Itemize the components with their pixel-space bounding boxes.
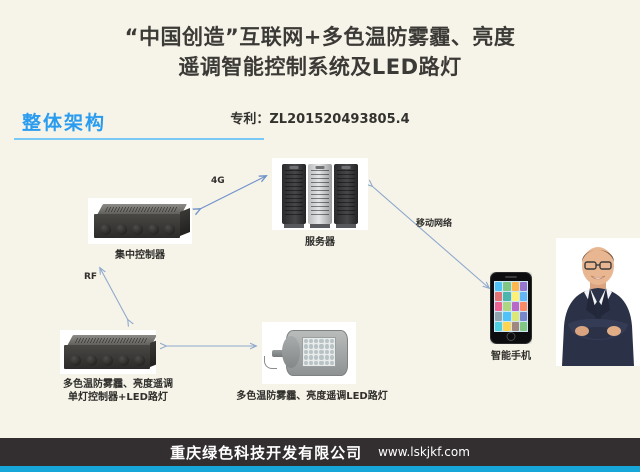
businessman-illustration (556, 238, 640, 366)
businessman-photo (556, 238, 640, 366)
concentrator-image (88, 198, 192, 244)
slide-canvas: “中国创造”互联网+多色温防雾霾、亮度 遥调智能控制系统及LED路灯 专利：ZL… (0, 0, 640, 472)
concentrator-caption: 集中控制器 (88, 249, 192, 262)
footer-company: 重庆绿色科技开发有限公司 (170, 442, 362, 463)
street-lamp-image (262, 322, 356, 384)
street-lamp-graphic (272, 330, 346, 374)
link-rf-line (100, 268, 128, 320)
iphone-graphic (490, 272, 532, 344)
link-rf-label: RF (84, 272, 97, 282)
lamp-controller-caption-line2: 单灯控制器+LED路灯 (68, 392, 168, 403)
footer-accent-rule (0, 466, 640, 472)
server-rack-2 (308, 164, 332, 224)
smartphone-image (490, 272, 532, 344)
server-rack-1 (282, 164, 306, 224)
page-title-line1: “中国创造”互联网+多色温防雾霾、亮度 (125, 25, 516, 49)
app-grid (494, 281, 528, 332)
lamp-controller-device-graphic (64, 335, 156, 369)
link-4g-label: 4G (211, 176, 225, 186)
footer-bar: 重庆绿色科技开发有限公司 www.lskjkf.com (0, 438, 640, 466)
section-title: 整体架构 (22, 108, 106, 135)
servers-image (272, 158, 368, 230)
link-4g-line (200, 176, 266, 209)
servers-caption: 服务器 (272, 236, 368, 249)
link-mobile-line (372, 186, 489, 288)
page-title-line2: 遥调智能控制系统及LED路灯 (0, 52, 640, 82)
lamp-controller-caption: 多色温防雾霾、亮度遥调 单灯控制器+LED路灯 (38, 378, 198, 404)
smartphone-caption: 智能手机 (470, 350, 552, 363)
street-lamp-caption: 多色温防雾霾、亮度遥调LED路灯 (222, 390, 402, 403)
section-underline (14, 138, 264, 140)
server-rack-3 (334, 164, 358, 224)
link-mobile-label: 移动网络 (416, 216, 452, 229)
concentrator-device-graphic (94, 204, 186, 238)
page-title: “中国创造”互联网+多色温防雾霾、亮度 遥调智能控制系统及LED路灯 (0, 22, 640, 82)
lamp-controller-image (60, 330, 156, 374)
lamp-controller-caption-line1: 多色温防雾霾、亮度遥调 (63, 379, 173, 390)
footer-url[interactable]: www.lskjkf.com (378, 445, 470, 459)
